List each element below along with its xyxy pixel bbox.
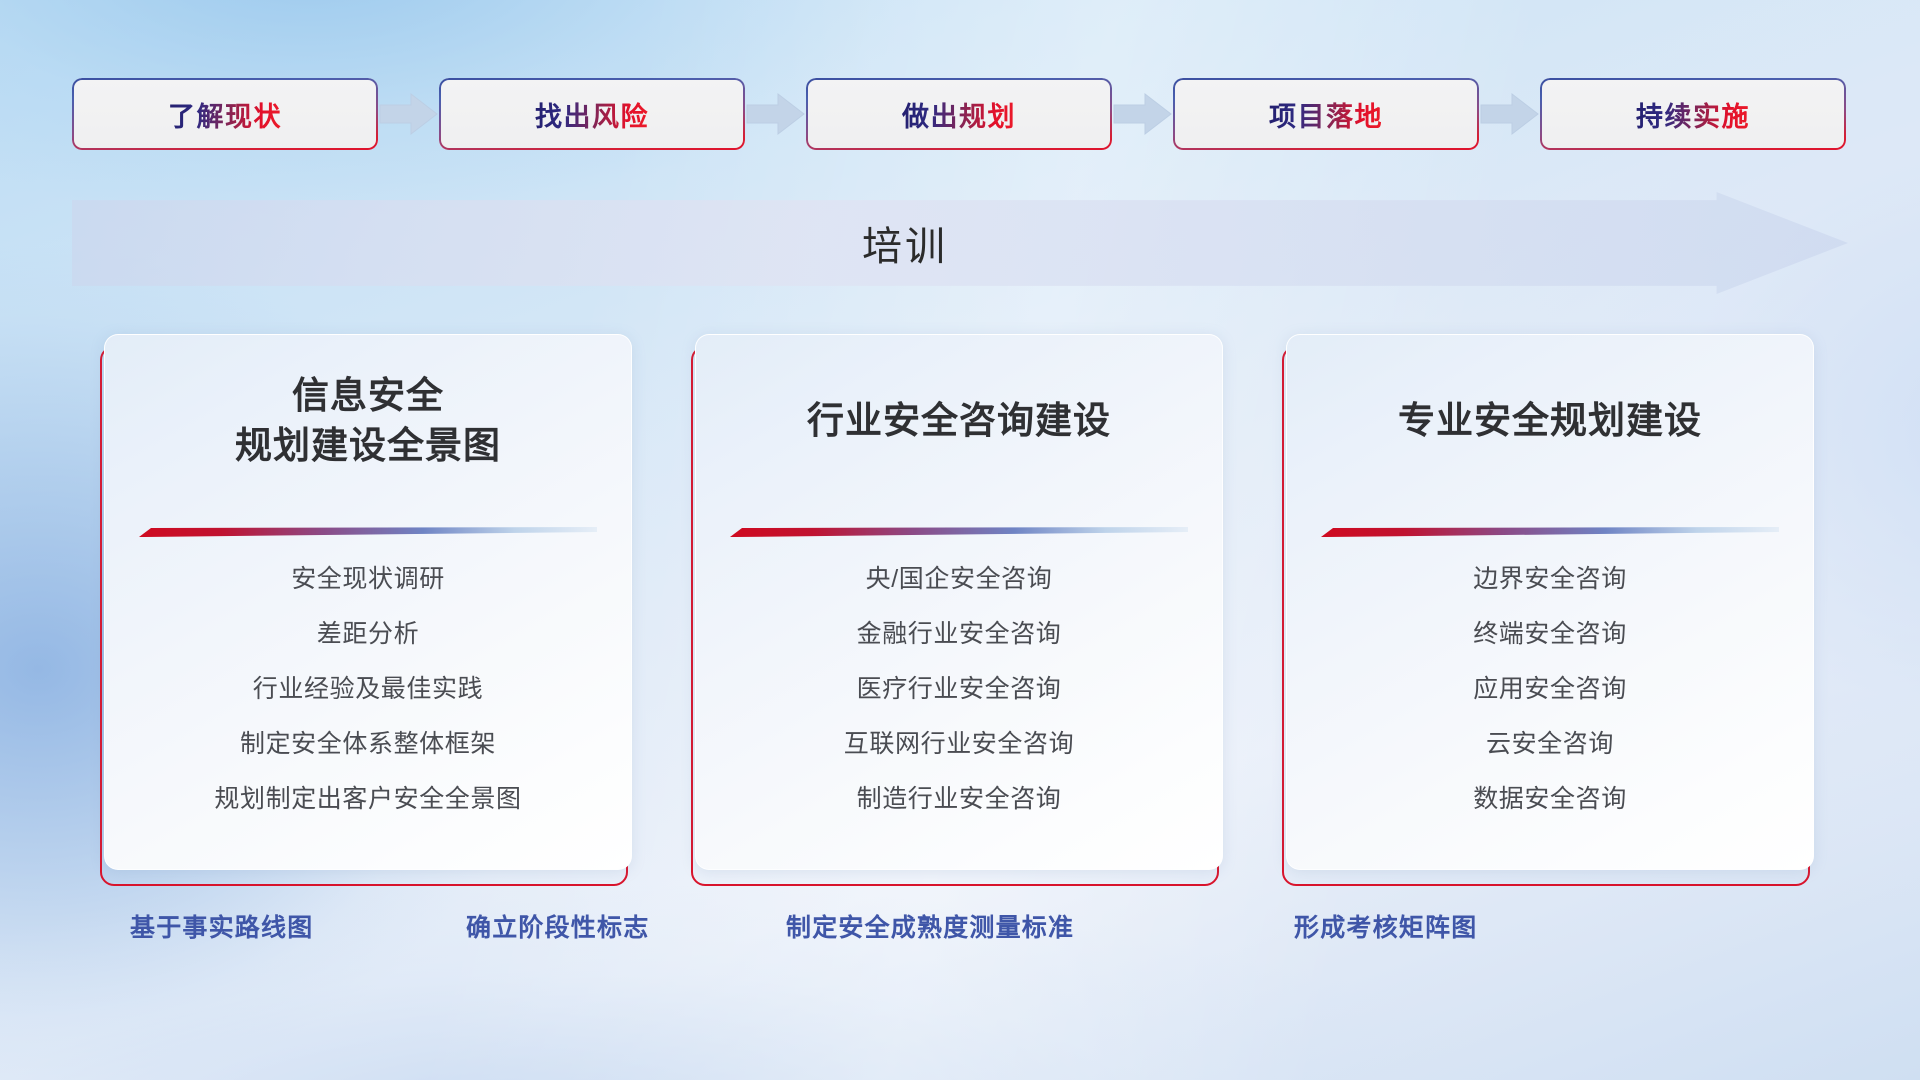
- card-divider-icon: [730, 525, 1188, 536]
- footer-label-1: 基于事实路线图: [130, 908, 313, 944]
- card-header: 信息安全 规划建设全景图: [105, 335, 631, 507]
- feature-card-1[interactable]: 信息安全 规划建设全景图: [104, 334, 632, 870]
- card-item-list: 安全现状调研 差距分析 行业经验及最佳实践 制定安全体系整体框架 规划制定出客户…: [105, 559, 631, 815]
- step-box-3[interactable]: 做出规划: [806, 78, 1112, 150]
- card-surface: 行业安全咨询建设: [695, 334, 1223, 870]
- step-label: 找出风险: [535, 95, 649, 134]
- footer-label-4: 形成考核矩阵图: [1294, 908, 1477, 944]
- footer-label-3: 制定安全成熟度测量标准: [786, 908, 1074, 944]
- process-step-row: 了解现状 找出风险 做出规划 项目落地 持续实施: [72, 78, 1850, 150]
- card-title: 专业安全规划建设: [1398, 396, 1702, 446]
- list-item: 金融行业安全咨询: [857, 614, 1062, 650]
- step-box-5[interactable]: 持续实施: [1540, 78, 1846, 150]
- training-banner: 培训: [72, 192, 1848, 294]
- list-item: 制定安全体系整体框架: [240, 724, 496, 760]
- list-item: 边界安全咨询: [1473, 559, 1627, 595]
- list-item: 规划制定出客户安全全景图: [214, 779, 521, 815]
- card-divider-icon: [139, 525, 597, 536]
- footer-label-2: 确立阶段性标志: [466, 908, 649, 944]
- feature-card-3[interactable]: 专业安全规划建设: [1286, 334, 1814, 870]
- step-label: 了解现状: [168, 95, 282, 134]
- card-item-list: 央/国企安全咨询 金融行业安全咨询 医疗行业安全咨询 互联网行业安全咨询 制造行…: [696, 559, 1222, 815]
- step-label: 做出规划: [902, 95, 1016, 134]
- list-item: 应用安全咨询: [1473, 669, 1627, 705]
- arrow-right-icon: [378, 92, 439, 136]
- list-item: 医疗行业安全咨询: [857, 669, 1062, 705]
- card-header: 专业安全规划建设: [1287, 335, 1813, 507]
- arrow-right-icon: [1112, 92, 1173, 136]
- card-surface: 信息安全 规划建设全景图: [104, 334, 632, 870]
- banner-title: 培训: [72, 192, 1848, 294]
- arrow-right-icon: [1479, 92, 1540, 136]
- feature-card-2[interactable]: 行业安全咨询建设: [695, 334, 1223, 870]
- list-item: 数据安全咨询: [1473, 779, 1627, 815]
- card-title: 行业安全咨询建设: [807, 396, 1111, 446]
- step-box-2[interactable]: 找出风险: [439, 78, 745, 150]
- feature-card-row: 信息安全 规划建设全景图: [104, 334, 1816, 870]
- card-header: 行业安全咨询建设: [696, 335, 1222, 507]
- card-title: 信息安全 规划建设全景图: [235, 371, 501, 471]
- step-box-1[interactable]: 了解现状: [72, 78, 378, 150]
- list-item: 差距分析: [317, 614, 419, 650]
- list-item: 央/国企安全咨询: [866, 559, 1053, 595]
- list-item: 安全现状调研: [291, 559, 445, 595]
- list-item: 终端安全咨询: [1473, 614, 1627, 650]
- list-item: 互联网行业安全咨询: [844, 724, 1074, 760]
- arrow-right-icon: [745, 92, 806, 136]
- list-item: 制造行业安全咨询: [857, 779, 1062, 815]
- step-label: 项目落地: [1269, 95, 1383, 134]
- step-label: 持续实施: [1636, 95, 1750, 134]
- list-item: 云安全咨询: [1486, 724, 1614, 760]
- step-box-4[interactable]: 项目落地: [1173, 78, 1479, 150]
- card-item-list: 边界安全咨询 终端安全咨询 应用安全咨询 云安全咨询 数据安全咨询: [1287, 559, 1813, 815]
- footer-label-row: 基于事实路线图 确立阶段性标志 制定安全成熟度测量标准 形成考核矩阵图: [0, 908, 1920, 970]
- card-surface: 专业安全规划建设: [1286, 334, 1814, 870]
- list-item: 行业经验及最佳实践: [253, 669, 483, 705]
- card-divider-icon: [1321, 525, 1779, 536]
